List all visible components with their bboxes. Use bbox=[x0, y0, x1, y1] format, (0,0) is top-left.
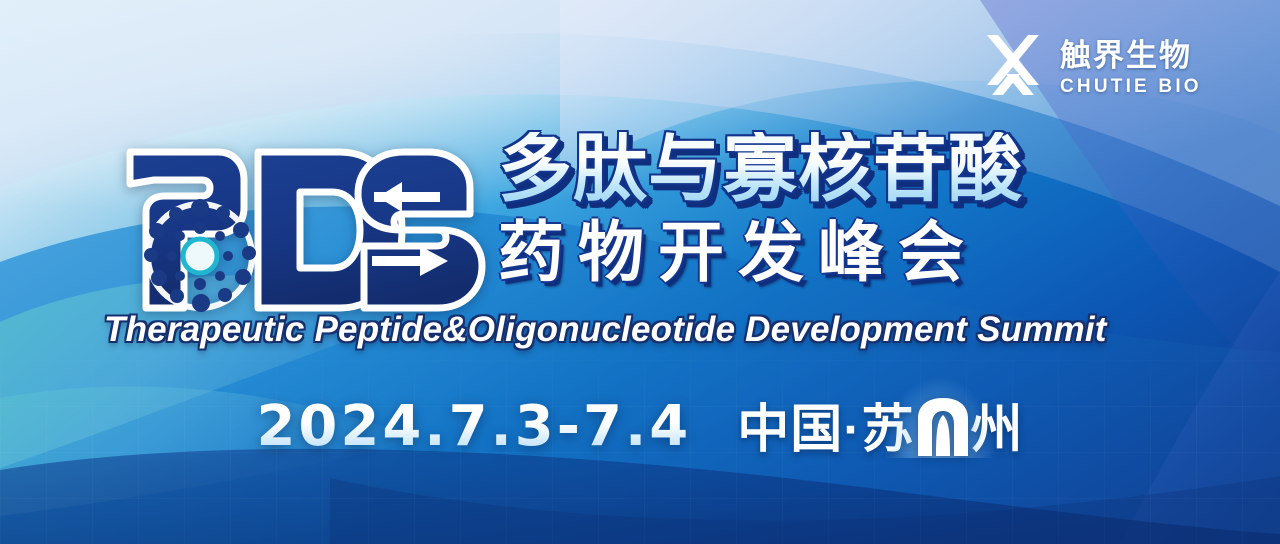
gate-of-the-orient-icon bbox=[916, 398, 970, 456]
corporate-name-cn: 触界生物 bbox=[1060, 40, 1202, 71]
headline-line-2: 药物开发峰会 bbox=[498, 220, 1188, 286]
pods-event-logo bbox=[110, 138, 510, 320]
city-prefix: 中国·苏 bbox=[737, 404, 914, 456]
x-cross-mark-icon bbox=[980, 33, 1046, 103]
event-headline: 多肽与寡核苷酸 药物开发峰会 bbox=[498, 132, 1188, 286]
corporate-logo: 触界生物 CHUTIE BIO bbox=[980, 33, 1202, 103]
city-suffix: 州 bbox=[971, 404, 1024, 456]
english-subtitle: Therapeutic Peptide&Oligonucleotide Deve… bbox=[104, 312, 1184, 347]
event-info-row: 2024.7.3-7.4 中国·苏 州 bbox=[0, 392, 1280, 462]
headline-line-1: 多肽与寡核苷酸 bbox=[498, 132, 1188, 206]
event-city: 中国·苏 州 bbox=[737, 398, 1023, 456]
conference-banner: 触界生物 CHUTIE BIO bbox=[0, 0, 1280, 544]
corporate-name-en: CHUTIE BIO bbox=[1060, 77, 1202, 96]
event-date: 2024.7.3-7.4 bbox=[256, 399, 691, 455]
